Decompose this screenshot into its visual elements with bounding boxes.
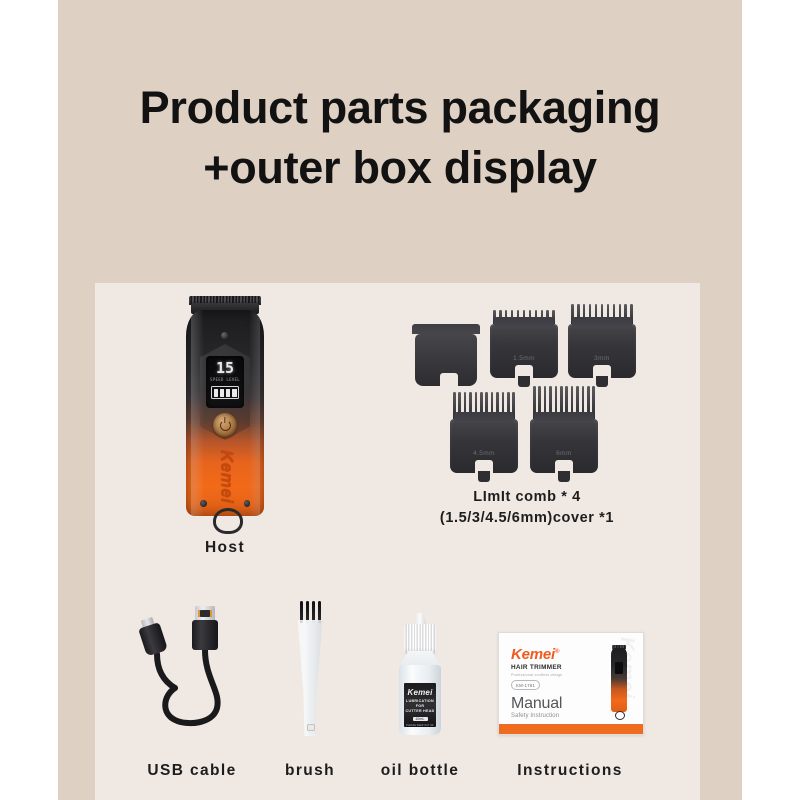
bristle-tuft: [312, 601, 315, 623]
comb-attachment-4-5mm: 4.5mm: [450, 392, 518, 473]
combs-caption-line-2: (1.5/3/4.5/6mm)cover *1: [440, 510, 614, 526]
comb-attachment-3mm: 3mm: [568, 304, 636, 378]
cleaning-brush: [296, 601, 324, 736]
comb-notch: [593, 365, 611, 378]
bristle-tuft: [300, 601, 303, 623]
registered-mark-icon: ®: [555, 649, 559, 655]
combs-caption: LImIt comb * 4 (1.5/3/4.5/6mm)cover *1: [402, 487, 652, 529]
battery-bar: [226, 389, 231, 397]
body-screw-right: [244, 500, 251, 507]
bottle-fine-print: PLEASE KEEP OUT OF REACH OF CHILDREN: [404, 724, 436, 727]
comb-body: 3mm: [568, 324, 636, 378]
manual-product-type: HAIR TRIMMER: [511, 664, 562, 671]
trimmer-brand-label: Kemei: [217, 450, 237, 504]
lcd-digits: 15: [206, 361, 244, 376]
manual-subtitle: Safety Instruction: [511, 713, 559, 719]
manual-trimmer-lcd: [615, 662, 623, 674]
oil-bottle: Kemei LUBRICATION FOR CUTTER HEAD 10mL P…: [392, 613, 448, 737]
manual-brand-text: Kemei: [511, 646, 555, 663]
manual-trimmer-body: [611, 648, 627, 712]
manual-trimmer-illustration: [611, 645, 627, 719]
comb-body: 4.5mm: [450, 419, 518, 473]
comb-body: 1.5mm: [490, 324, 558, 378]
instructions-caption: Instructions: [498, 762, 642, 780]
comb-size-label: 6mm: [530, 450, 598, 457]
bottle-cap: [404, 624, 436, 654]
body-highlight-right: [249, 310, 260, 516]
battery-bar: [232, 389, 237, 397]
power-icon: [220, 420, 231, 431]
comb-attachment-6mm: 6mm: [530, 386, 598, 473]
lcd-sublabel: SPEED LEVEL: [206, 377, 244, 382]
comb-size-label: 4.5mm: [450, 450, 518, 457]
comb-notch: [475, 460, 493, 473]
bottle-brand: Kemei: [404, 688, 436, 697]
blade-cover-notch: [440, 373, 458, 386]
oil-bottle-caption: oil bottle: [372, 762, 468, 780]
usb-cable-caption: USB cable: [126, 762, 258, 780]
comb-size-label: 3mm: [568, 355, 636, 362]
blade-cover: [412, 324, 480, 386]
instructions-manual: Kemei Kemei® HAIR TRIMMER Professional c…: [498, 632, 644, 735]
bottle-description: LUBRICATION FOR CUTTER HEAD: [404, 699, 436, 714]
comb-size-label: 1.5mm: [490, 355, 558, 362]
lcd-display: 15 SPEED LEVEL: [206, 356, 244, 408]
host-trimmer: 15 SPEED LEVEL Kemei: [186, 296, 264, 532]
trimmer-body: 15 SPEED LEVEL Kemei: [186, 310, 264, 516]
host-caption: Host: [186, 539, 264, 557]
manual-brand: Kemei®: [511, 646, 559, 663]
usb-cable: [135, 596, 250, 736]
blade-cover-body: [415, 334, 477, 386]
bottle-volume: 10mL: [413, 717, 428, 721]
usb-a-housing: [192, 620, 218, 650]
bottle-description-line-1: LUBRICATION FOR: [406, 699, 434, 708]
bottle-description-line-2: CUTTER HEAD: [405, 709, 434, 713]
usb-a-connector: [192, 606, 218, 650]
comb-notch: [555, 460, 573, 473]
comb-attachment-1-5mm: 1.5mm: [490, 310, 558, 378]
brush-handle: [296, 620, 324, 736]
body-screw-left: [200, 500, 207, 507]
manual-trimmer-loop: [615, 711, 625, 720]
brush-bristles: [300, 601, 321, 623]
power-button[interactable]: [213, 413, 237, 437]
blade-cover-top: [412, 324, 480, 334]
page-title-line-2: +outer box display: [58, 138, 742, 198]
manual-model-badge: KM-1761: [511, 680, 540, 690]
brush-caption: brush: [268, 762, 352, 780]
manual-title: Manual: [511, 695, 562, 713]
lcd-battery-indicator: [211, 386, 239, 399]
comb-notch: [515, 365, 533, 378]
page-title-line-1: Product parts packaging: [58, 78, 742, 138]
brush-hang-hole: [307, 724, 315, 731]
comb-body: 6mm: [530, 419, 598, 473]
bottle-body: Kemei LUBRICATION FOR CUTTER HEAD 10mL P…: [399, 665, 441, 735]
page-title: Product parts packaging +outer box displ…: [58, 78, 742, 198]
battery-bar: [214, 389, 219, 397]
neck-screw: [221, 332, 228, 339]
bottle-label: Kemei LUBRICATION FOR CUTTER HEAD 10mL P…: [404, 683, 436, 727]
combs-caption-line-1: LImIt comb * 4: [473, 489, 581, 505]
battery-bar: [220, 389, 225, 397]
manual-tagline: Professional cordless design: [511, 673, 562, 677]
bristle-tuft: [318, 601, 321, 623]
comb-attachments-group: 1.5mm 3mm: [402, 296, 652, 476]
manual-accent-bar: [499, 724, 643, 734]
bristle-tuft: [306, 601, 309, 623]
lanyard-loop: [213, 508, 243, 534]
product-parts-infographic: Product parts packaging +outer box displ…: [0, 0, 800, 800]
